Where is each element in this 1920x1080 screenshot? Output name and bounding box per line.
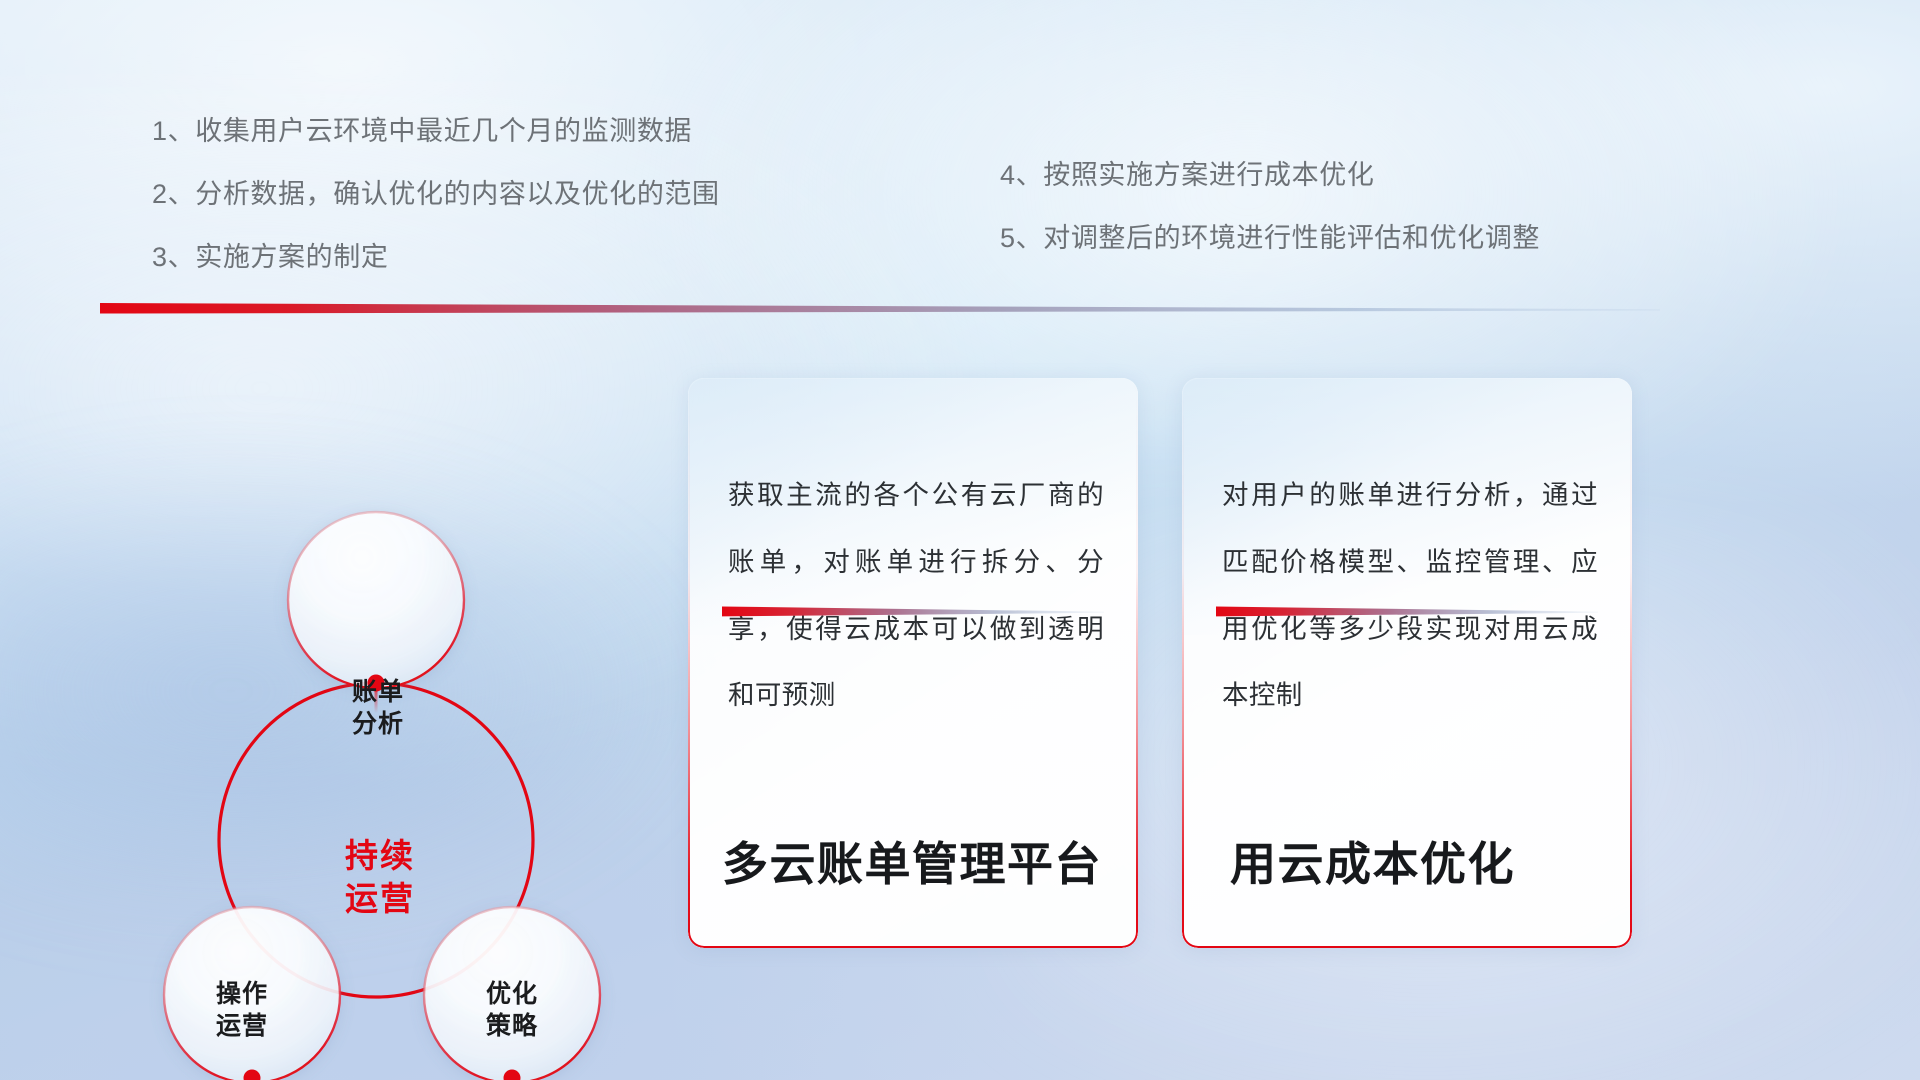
- bullet-item-3: 3、实施方案的制定: [152, 244, 720, 271]
- bullet-item-1: 1、收集用户云环境中最近几个月的监测数据: [152, 118, 720, 145]
- card-cloud-cost-optimization[interactable]: 对用户的账单进行分析，通过匹配价格模型、监控管理、应用优化等多少段实现对用云成本…: [1182, 378, 1632, 948]
- card-title: 用云成本优化: [1230, 839, 1610, 890]
- venn-center-label: 持续 运营: [295, 835, 465, 921]
- venn-label-operations: 操作 运营: [162, 978, 322, 1042]
- bullet-item-2: 2、分析数据，确认优化的内容以及优化的范围: [152, 181, 720, 208]
- card-accent-rule: [1216, 604, 1598, 618]
- bullet-list-left: 1、收集用户云环境中最近几个月的监测数据 2、分析数据，确认优化的内容以及优化的…: [152, 118, 720, 271]
- venn-label-billing-analysis: 账单 分析: [298, 676, 458, 740]
- continuous-operations-diagram: 账单 分析 操作 运营 优化 策略 持续 运营: [80, 350, 660, 950]
- card-multi-cloud-billing-platform[interactable]: 获取主流的各个公有云厂商的账单，对账单进行拆分、分享，使得云成本可以做到透明和可…: [688, 378, 1138, 948]
- section-divider: [100, 300, 1660, 316]
- bullet-list-right: 4、按照实施方案进行成本优化 5、对调整后的环境进行性能评估和优化调整: [1000, 162, 1540, 252]
- card-body-text: 对用户的账单进行分析，通过匹配价格模型、监控管理、应用优化等多少段实现对用云成本…: [1222, 462, 1598, 729]
- card-title: 多云账单管理平台: [722, 839, 1116, 890]
- bubble-billing-analysis: [288, 512, 464, 688]
- card-accent-rule: [722, 604, 1104, 618]
- bullet-item-4: 4、按照实施方案进行成本优化: [1000, 162, 1540, 189]
- venn-label-optimization: 优化 策略: [432, 978, 592, 1042]
- card-body-text: 获取主流的各个公有云厂商的账单，对账单进行拆分、分享，使得云成本可以做到透明和可…: [728, 462, 1104, 729]
- bullet-item-5: 5、对调整后的环境进行性能评估和优化调整: [1000, 225, 1540, 252]
